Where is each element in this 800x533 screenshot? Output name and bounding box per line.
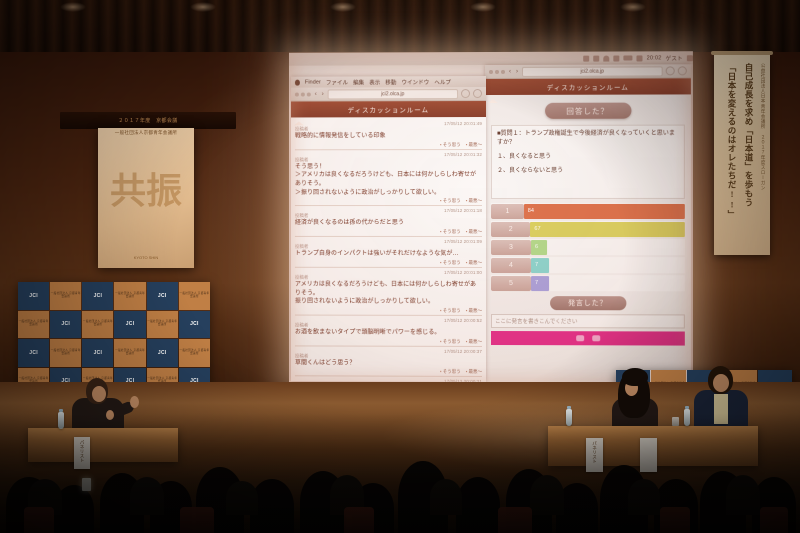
poll-page-header: ディスカッションルーム xyxy=(485,78,691,95)
agree-button[interactable]: そう思う xyxy=(440,260,461,266)
poll-bar-label: 4 xyxy=(491,258,531,273)
ceiling-light xyxy=(620,2,646,12)
feed-post[interactable]: 17/05/12 20:01:09投稿者トランプ自身のインパクトは強いがそれだけ… xyxy=(295,237,482,268)
post-text: 経済が良くなるのは孫の代からだと思う xyxy=(295,219,482,228)
poll-bar-value: 67 xyxy=(532,226,542,232)
ceiling-light xyxy=(60,2,86,12)
post-text: 草間くんはどう思う？ xyxy=(295,359,482,368)
feed-url-bar[interactable]: ‹ › jci2.olca.jp xyxy=(291,87,486,102)
poll-bar-row[interactable]: 47 xyxy=(491,257,685,273)
ceiling-light xyxy=(190,2,216,12)
jci-logo-tile: JCI xyxy=(179,311,210,339)
bluetooth-icon xyxy=(583,55,589,61)
reload-icon[interactable] xyxy=(461,89,470,98)
camera-icon[interactable] xyxy=(576,335,584,341)
wifi-icon xyxy=(603,55,609,61)
projection-screen: 20:02 ゲスト ‹ › jci2.olca.jp ディスカッションルーム xyxy=(289,51,693,385)
agree-button[interactable]: そう思う xyxy=(440,229,461,235)
jci-text-tile: 一般社団法人 京都青年会議所 xyxy=(50,339,81,367)
poll-page-title: ディスカッションルーム xyxy=(547,82,629,92)
apple-icon[interactable] xyxy=(295,79,300,85)
airplay-icon xyxy=(613,55,619,61)
disagree-button[interactable]: 最悪〜 xyxy=(466,308,482,314)
disagree-button[interactable]: 最悪〜 xyxy=(466,198,482,204)
question-text: ■質問１：トランプ政権誕生で今後経済が良くなっていくと思いますか？ xyxy=(497,130,679,148)
poll-results: 184267364757 xyxy=(491,203,685,291)
home-icon[interactable] xyxy=(294,104,304,113)
feed-post[interactable]: 17/05/12 20:01:32投稿者そう思う！＞アメリカは良くなるだろうけど… xyxy=(295,150,482,207)
poll-bar-label: 2 xyxy=(491,222,530,237)
finder-menubar[interactable]: Finder ファイル 編集 表示 移動 ウインドウ ヘルプ xyxy=(291,76,486,88)
post-text: 戦略的に情報発信をしている印象 xyxy=(295,132,482,141)
discussion-feed[interactable]: 17/05/12 20:01:49投稿者戦略的に情報発信をしている印象そう思う最… xyxy=(291,117,486,382)
feed-url-field[interactable]: jci2.olca.jp xyxy=(328,89,458,99)
menubar-clock: 20:02 xyxy=(647,55,662,61)
banner-rod xyxy=(711,51,773,55)
disagree-button[interactable]: 最悪〜 xyxy=(466,260,482,266)
poll-bar-row[interactable]: 57 xyxy=(491,275,685,291)
back-icon[interactable]: ‹ xyxy=(508,68,512,74)
menu-window[interactable]: ウインドウ xyxy=(401,78,429,86)
browser-window-poll[interactable]: ‹ › jci2.olca.jp ディスカッションルーム 回答した？ ■質問１：… xyxy=(485,64,691,382)
agree-button[interactable]: そう思う xyxy=(440,338,461,344)
feed-post[interactable]: 17/05/12 20:01:18投稿者経済が良くなるのは孫の代からだと思うそう… xyxy=(295,206,482,237)
menubar-user: ゲスト xyxy=(666,54,683,62)
left-banner-top-line: 一般社団法人京都青年会議所 xyxy=(98,130,194,136)
poll-bar-label: 5 xyxy=(491,276,531,291)
conference-hall-photo: 20:02 ゲスト ‹ › jci2.olca.jp ディスカッションルーム xyxy=(0,0,800,533)
agree-button[interactable]: そう思う xyxy=(440,198,461,204)
back-icon[interactable]: ‹ xyxy=(314,91,318,97)
finder-app-name[interactable]: Finder xyxy=(305,79,321,85)
jci-logo-tile: JCI xyxy=(147,282,178,310)
share-icon[interactable] xyxy=(678,66,687,75)
poll-bar-row[interactable]: 36 xyxy=(491,239,685,255)
jci-logo-tile: JCI xyxy=(18,282,49,310)
feed-post[interactable]: 17/05/12 20:00:52投稿者お酒を飲まないタイプで頭脳明晰でパワーを… xyxy=(295,315,482,346)
jci-logo-tile: JCI xyxy=(147,339,178,367)
browser-window-feed[interactable]: Finder ファイル 編集 表示 移動 ウインドウ ヘルプ ‹ › jci2.… xyxy=(291,76,486,382)
jci-text-tile: 一般社団法人 京都青年会議所 xyxy=(50,282,81,310)
poll-url-field[interactable]: jci2.olca.jp xyxy=(522,66,663,77)
ceiling-light xyxy=(470,2,496,12)
agree-button[interactable]: そう思う xyxy=(440,308,461,314)
post-text: トランプ自身のインパクトは強いがそれだけなような気が… xyxy=(295,250,482,259)
jci-text-tile: 一般社団法人 京都青年会議所 xyxy=(147,311,178,339)
banner-slogan-line2: 「日本を変えるのはオレたちだ!!」 xyxy=(726,63,737,219)
forward-icon[interactable]: › xyxy=(321,91,325,97)
question-option-2: ２、良くならないと思う xyxy=(497,167,679,176)
menu-help[interactable]: ヘルプ xyxy=(434,78,451,86)
right-vertical-banner: 公益社団法人日本青年会議所 ２０１７年度スローガン 自己成長を求め「日本道」を歩… xyxy=(714,55,770,255)
poll-bar-fill: 67 xyxy=(530,222,684,237)
disagree-button[interactable]: 最悪〜 xyxy=(466,229,482,235)
menu-view[interactable]: 表示 xyxy=(369,78,380,86)
disagree-button[interactable]: 最悪〜 xyxy=(466,142,482,148)
menu-go[interactable]: 移動 xyxy=(385,78,396,86)
jci-logo-tile: JCI xyxy=(114,311,145,339)
poll-bar-fill: 84 xyxy=(524,203,685,218)
say-input[interactable]: ここに発言を書きこんでください xyxy=(491,314,685,328)
ceiling-light xyxy=(330,2,356,12)
poll-url-bar[interactable]: ‹ › jci2.olca.jp xyxy=(485,64,691,79)
banner-slogan-small: 公益社団法人日本青年会議所 ２０１７年度スローガン xyxy=(760,63,766,191)
search-icon xyxy=(687,55,693,61)
top-strip-banner: ２０１７年度 京都会議 xyxy=(60,112,236,129)
question-option-1: １、良くなると思う xyxy=(497,153,679,162)
feed-post[interactable]: 17/05/12 20:01:49投稿者戦略的に情報発信をしている印象そう思う最… xyxy=(295,119,482,150)
jci-text-tile: 一般社団法人 京都青年会議所 xyxy=(82,311,113,339)
agree-button[interactable]: そう思う xyxy=(440,142,461,148)
poll-bar-row[interactable]: 184 xyxy=(491,203,685,219)
poll-bar-label: 1 xyxy=(491,203,524,218)
jci-text-tile: 一般社団法人 京都青年会議所 xyxy=(179,282,210,310)
left-banner-sub: KYOTO SHIN xyxy=(98,255,194,260)
poll-bar-value: 84 xyxy=(526,208,536,214)
jci-logo-tile: JCI xyxy=(18,339,49,367)
reload-icon[interactable] xyxy=(666,66,675,75)
window-traffic-lights[interactable] xyxy=(489,69,505,73)
poll-bar-fill: 6 xyxy=(531,240,547,255)
poll-bar-value: 7 xyxy=(533,280,540,286)
feed-post[interactable]: 17/05/12 20:01:00投稿者アメリカは良くなるだろうけども、日本には… xyxy=(295,268,482,316)
poll-toolbar[interactable] xyxy=(491,331,685,346)
menu-file[interactable]: ファイル xyxy=(326,78,348,86)
jci-text-tile: 一般社団法人 京都青年会議所 xyxy=(114,282,145,310)
poll-bar-value: 7 xyxy=(533,262,540,268)
feed-post[interactable]: 17/05/12 20:00:37投稿者草間くんはどう思う？そう思う最悪〜 xyxy=(295,346,482,377)
agree-button[interactable]: そう思う xyxy=(440,369,461,375)
poll-bar-label: 3 xyxy=(491,240,531,255)
display-icon xyxy=(593,55,599,61)
post-text: そう思う！＞アメリカは良くなるだろうけども、日本には何かしらしわ寄せがありそう。… xyxy=(295,163,482,198)
poll-bar-row[interactable]: 267 xyxy=(491,221,685,237)
disagree-button[interactable]: 最悪〜 xyxy=(466,338,482,344)
post-text: アメリカは良くなるだろうけども、日本には何かしらしわ寄せがありそう。振り回されな… xyxy=(295,281,482,307)
poll-bar-fill: 7 xyxy=(531,276,549,291)
home-icon[interactable] xyxy=(488,82,498,91)
input-source-icon xyxy=(624,55,633,60)
audience-shadow xyxy=(0,413,800,533)
poll-content: 回答した？ ■質問１：トランプ政権誕生で今後経済が良くなっていくと思いますか？ … xyxy=(485,94,691,382)
left-vertical-banner: 一般社団法人京都青年会議所 共振 KYOTO SHIN xyxy=(98,128,194,268)
say-button[interactable]: 発言した？ xyxy=(550,296,626,310)
poll-bar-value: 6 xyxy=(533,244,540,250)
disagree-button[interactable]: 最悪〜 xyxy=(466,369,482,375)
forward-icon[interactable]: › xyxy=(515,68,519,74)
left-banner-kanji: 共振 xyxy=(98,162,194,214)
post-text: お酒を飲まないタイプで頭脳明晰でパワーを感じる。 xyxy=(295,328,482,337)
attachment-icon[interactable] xyxy=(592,335,600,341)
answered-button[interactable]: 回答した？ xyxy=(545,103,631,119)
jci-text-tile: 一般社団法人 京都青年会議所 xyxy=(179,339,210,367)
battery-icon xyxy=(637,55,643,61)
feed-page-header: ディスカッションルーム xyxy=(291,101,486,117)
menu-edit[interactable]: 編集 xyxy=(353,78,364,86)
window-traffic-lights[interactable] xyxy=(295,92,311,96)
share-icon[interactable] xyxy=(473,89,482,98)
banner-slogan-line1: 自己成長を求め「日本道」を歩もう xyxy=(743,63,754,207)
jci-logo-tile: JCI xyxy=(50,311,81,339)
jci-text-tile: 一般社団法人 京都青年会議所 xyxy=(114,339,145,367)
jci-logo-tile: JCI xyxy=(82,339,113,367)
question-box: ■質問１：トランプ政権誕生で今後経済が良くなっていくと思いますか？ １、良くなる… xyxy=(491,125,685,199)
feed-page-title: ディスカッションルーム xyxy=(348,104,429,114)
jci-text-tile: 一般社団法人 京都青年会議所 xyxy=(18,311,49,339)
jci-logo-tile: JCI xyxy=(82,282,113,310)
poll-bar-fill: 7 xyxy=(531,258,549,273)
